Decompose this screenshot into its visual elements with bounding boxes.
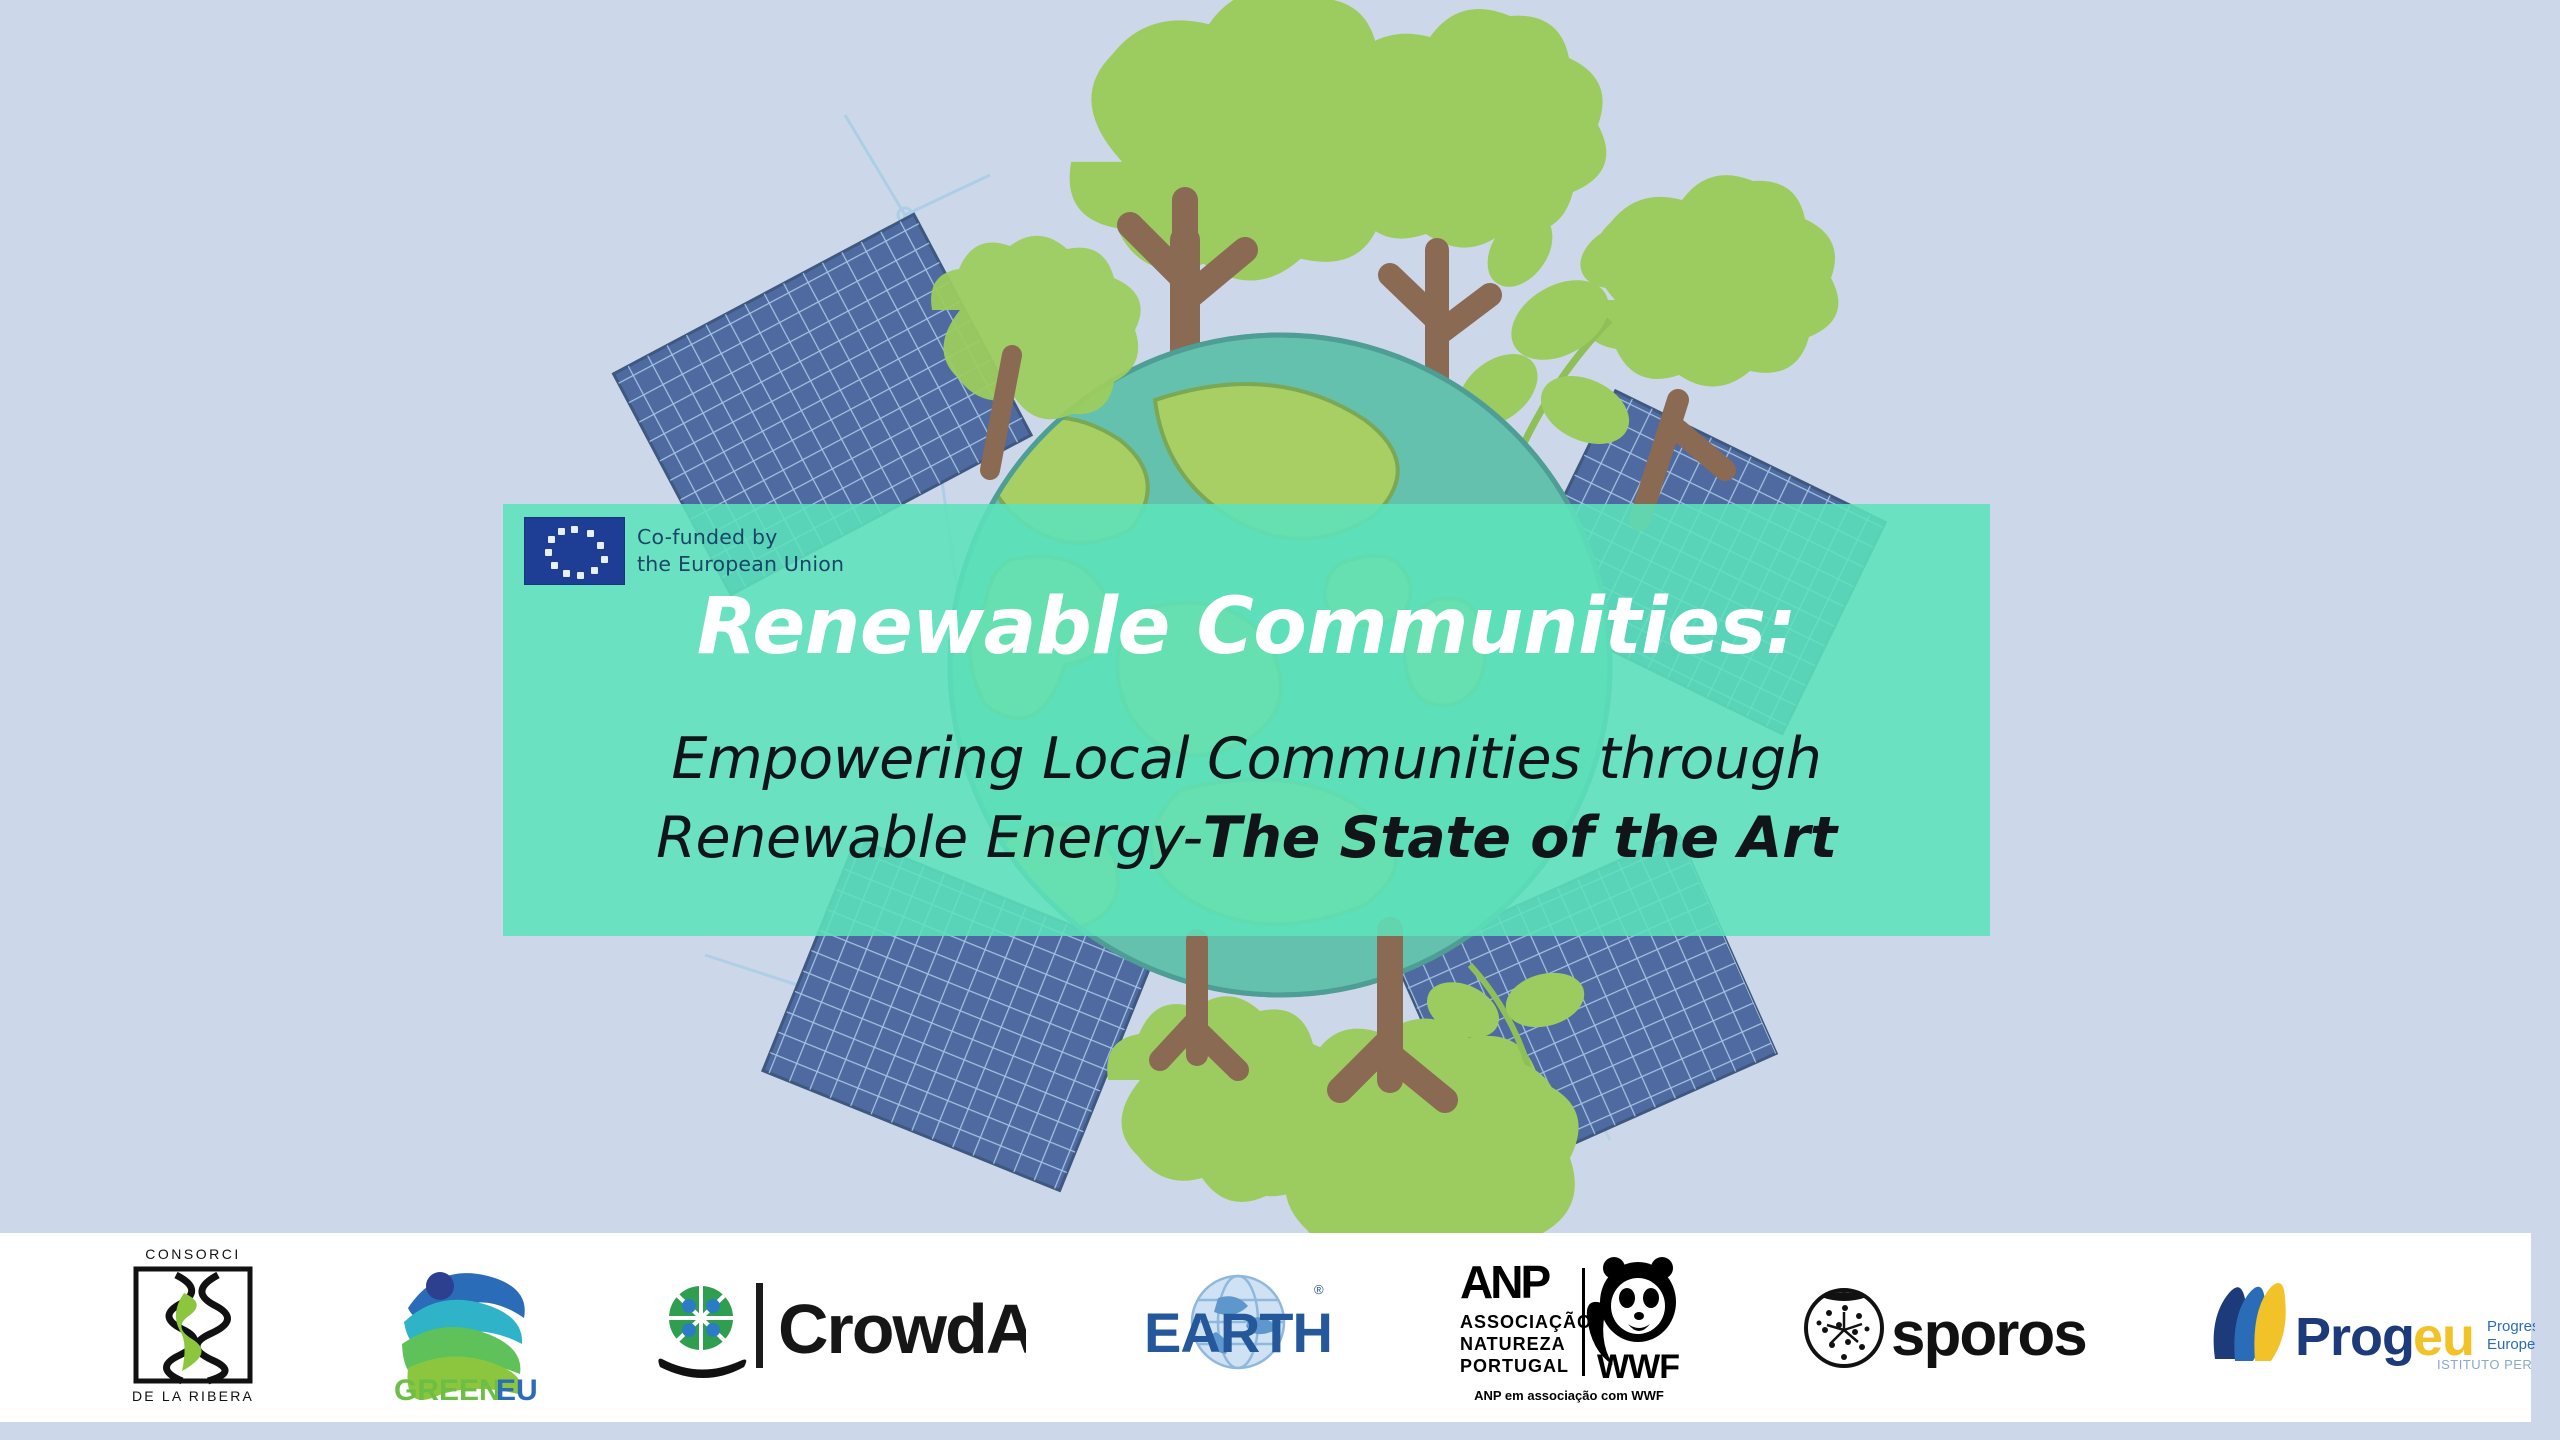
anp-acronym: ANP [1460, 1256, 1550, 1308]
consorci-bottom-text: DE LA RIBERA [132, 1388, 254, 1404]
anp-line-1: ASSOCIAÇÃO [1460, 1311, 1592, 1332]
page-subtitle: Empowering Local Communities through Ren… [543, 720, 1950, 878]
logo-anp-wwf[interactable]: ANP ASSOCIAÇÃO NATUREZA PORTUGAL WWF ANP… [1442, 1233, 1697, 1422]
progeu-text: Prog [2295, 1307, 2414, 1367]
progeu-tagline-line-3: ISTITUTO PER LO SVILUP [2437, 1357, 2535, 1372]
logo-earth[interactable]: EARTH ® [1138, 1233, 1338, 1422]
anp-line-2: NATUREZA [1460, 1334, 1566, 1354]
crowdaid-globe-icon [658, 1284, 746, 1378]
anp-wwf-caption: ANP em associação com WWF [1474, 1388, 1664, 1403]
logo-crowdaid[interactable]: CrowdAid [656, 1233, 1026, 1422]
progeu-tagline-line-1: Progress in [2487, 1318, 2535, 1335]
consorci-top-text: CONSORCI [145, 1246, 240, 1262]
progeu-tagline-line-2: European Uni [2487, 1336, 2535, 1353]
page-title: Renewable Communities: [503, 582, 1990, 672]
green-eu-text-green: GREEN [394, 1374, 501, 1407]
green-eu-text-blue: EU [496, 1374, 538, 1407]
sporos-seed-icon [1806, 1290, 1882, 1366]
sporos-text: sporos [1891, 1300, 2086, 1369]
subtitle-line-1: Empowering Local Communities through [671, 726, 1821, 792]
earth-trademark: ® [1314, 1282, 1324, 1297]
wwf-text: WWF [1597, 1348, 1679, 1386]
anp-line-3: PORTUGAL [1460, 1356, 1569, 1376]
logo-progeu[interactable]: Prog eu Progress in European Uni ISTITUT… [2195, 1233, 2535, 1422]
earth-text: EARTH [1144, 1301, 1332, 1364]
partner-logo-strip: CONSORCI DE LA RIBERA GREEN EU [0, 1233, 2531, 1422]
eu-funding-badge: Co-funded by the European Union [524, 517, 844, 585]
subtitle-line-2-regular: Renewable Energy- [656, 805, 1203, 871]
crowdaid-text: CrowdAid [778, 1290, 1026, 1368]
eu-funding-text: Co-funded by the European Union [637, 524, 844, 578]
logo-green-eu[interactable]: GREEN EU [378, 1233, 548, 1422]
subtitle-line-2-bold: The State of the Art [1203, 805, 1837, 871]
progeu-flame-icon [2214, 1283, 2286, 1361]
logo-sporos[interactable]: sporos [1799, 1233, 2089, 1422]
eu-flag-icon [524, 517, 625, 585]
logo-consorci-de-la-ribera[interactable]: CONSORCI DE LA RIBERA [118, 1233, 268, 1422]
title-banner: Co-funded by the European Union Renewabl… [503, 504, 1990, 936]
